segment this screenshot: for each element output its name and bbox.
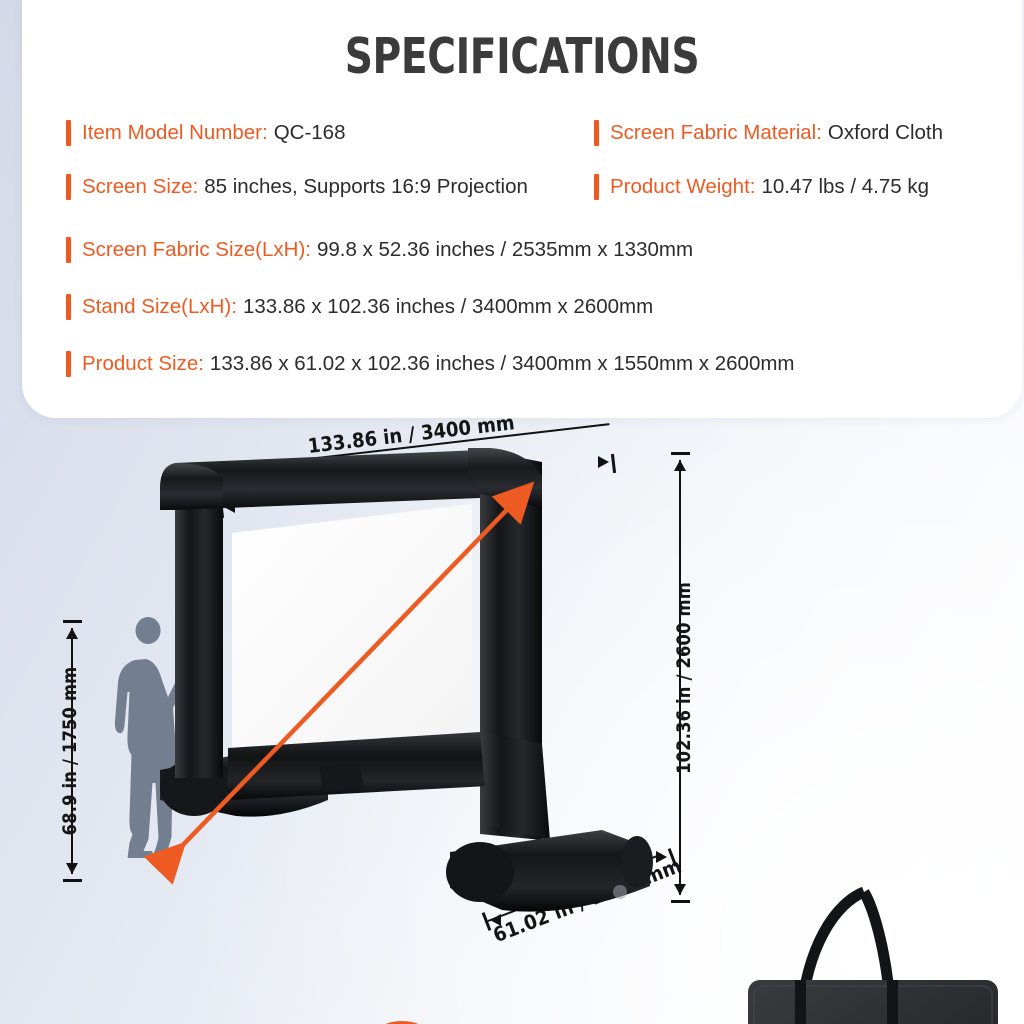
specifications-card: SPECIFICATIONS Item Model Number: QC-168… — [22, 0, 1022, 418]
spec-row-screen-fabric-material: Screen Fabric Material: Oxford Cloth — [594, 120, 943, 146]
spec-label: Screen Size: — [82, 175, 198, 199]
measure-cap-icon — [63, 879, 82, 882]
measurement-label: 68.9 in / 1750 mm — [59, 644, 81, 859]
accent-bar-icon — [66, 120, 71, 146]
spec-value: 85 inches, Supports 16:9 Projection — [204, 175, 528, 199]
spec-row-product-weight: Product Weight: 10.47 lbs / 4.75 kg — [594, 174, 929, 200]
product-diagram: 68.9 in / 1750 mm 133.86 in / 3400 mm 10… — [0, 418, 1024, 1024]
spec-value: 133.86 x 102.36 inches / 3400mm x 2600mm — [243, 295, 653, 319]
measure-cap-icon — [63, 620, 82, 623]
spec-value: 133.86 x 61.02 x 102.36 inches / 3400mm … — [210, 352, 795, 376]
spec-value: 10.47 lbs / 4.75 kg — [761, 175, 929, 199]
spec-label: Screen Fabric Size(LxH): — [82, 238, 311, 262]
carry-bag-illustration — [742, 884, 1004, 1024]
spec-row-product-size: Product Size: 133.86 x 61.02 x 102.36 in… — [66, 351, 795, 377]
diagonal-size-arrow — [150, 448, 680, 948]
spec-row-stand-size: Stand Size(LxH): 133.86 x 102.36 inches … — [66, 294, 653, 320]
spec-label: Product Size: — [82, 352, 204, 376]
spec-row-screen-fabric-size: Screen Fabric Size(LxH): 99.8 x 52.36 in… — [66, 237, 693, 263]
arrow-up-icon — [66, 628, 78, 639]
spec-row-screen-size: Screen Size: 85 inches, Supports 16:9 Pr… — [66, 174, 528, 200]
accent-bar-icon — [66, 237, 71, 263]
spec-value: Oxford Cloth — [828, 121, 943, 145]
spec-value: QC-168 — [274, 121, 346, 145]
accent-bar-icon — [66, 351, 71, 377]
product-spec-infographic: SPECIFICATIONS Item Model Number: QC-168… — [0, 0, 1024, 1024]
accent-bar-icon — [594, 174, 599, 200]
arrow-down-icon — [66, 863, 78, 874]
page-title: SPECIFICATIONS — [122, 32, 922, 81]
spec-value: 99.8 x 52.36 inches / 2535mm x 1330mm — [317, 238, 693, 262]
accent-bar-icon — [66, 174, 71, 200]
spec-label: Stand Size(LxH): — [82, 295, 237, 319]
spec-label: Item Model Number: — [82, 121, 268, 145]
accent-bar-icon — [594, 120, 599, 146]
spec-label: Product Weight: — [610, 175, 755, 199]
accent-bar-icon — [66, 294, 71, 320]
spec-label: Screen Fabric Material: — [610, 121, 822, 145]
measurement-person-height: 68.9 in / 1750 mm — [57, 628, 87, 874]
spec-row-item-model-number: Item Model Number: QC-168 — [66, 120, 345, 146]
